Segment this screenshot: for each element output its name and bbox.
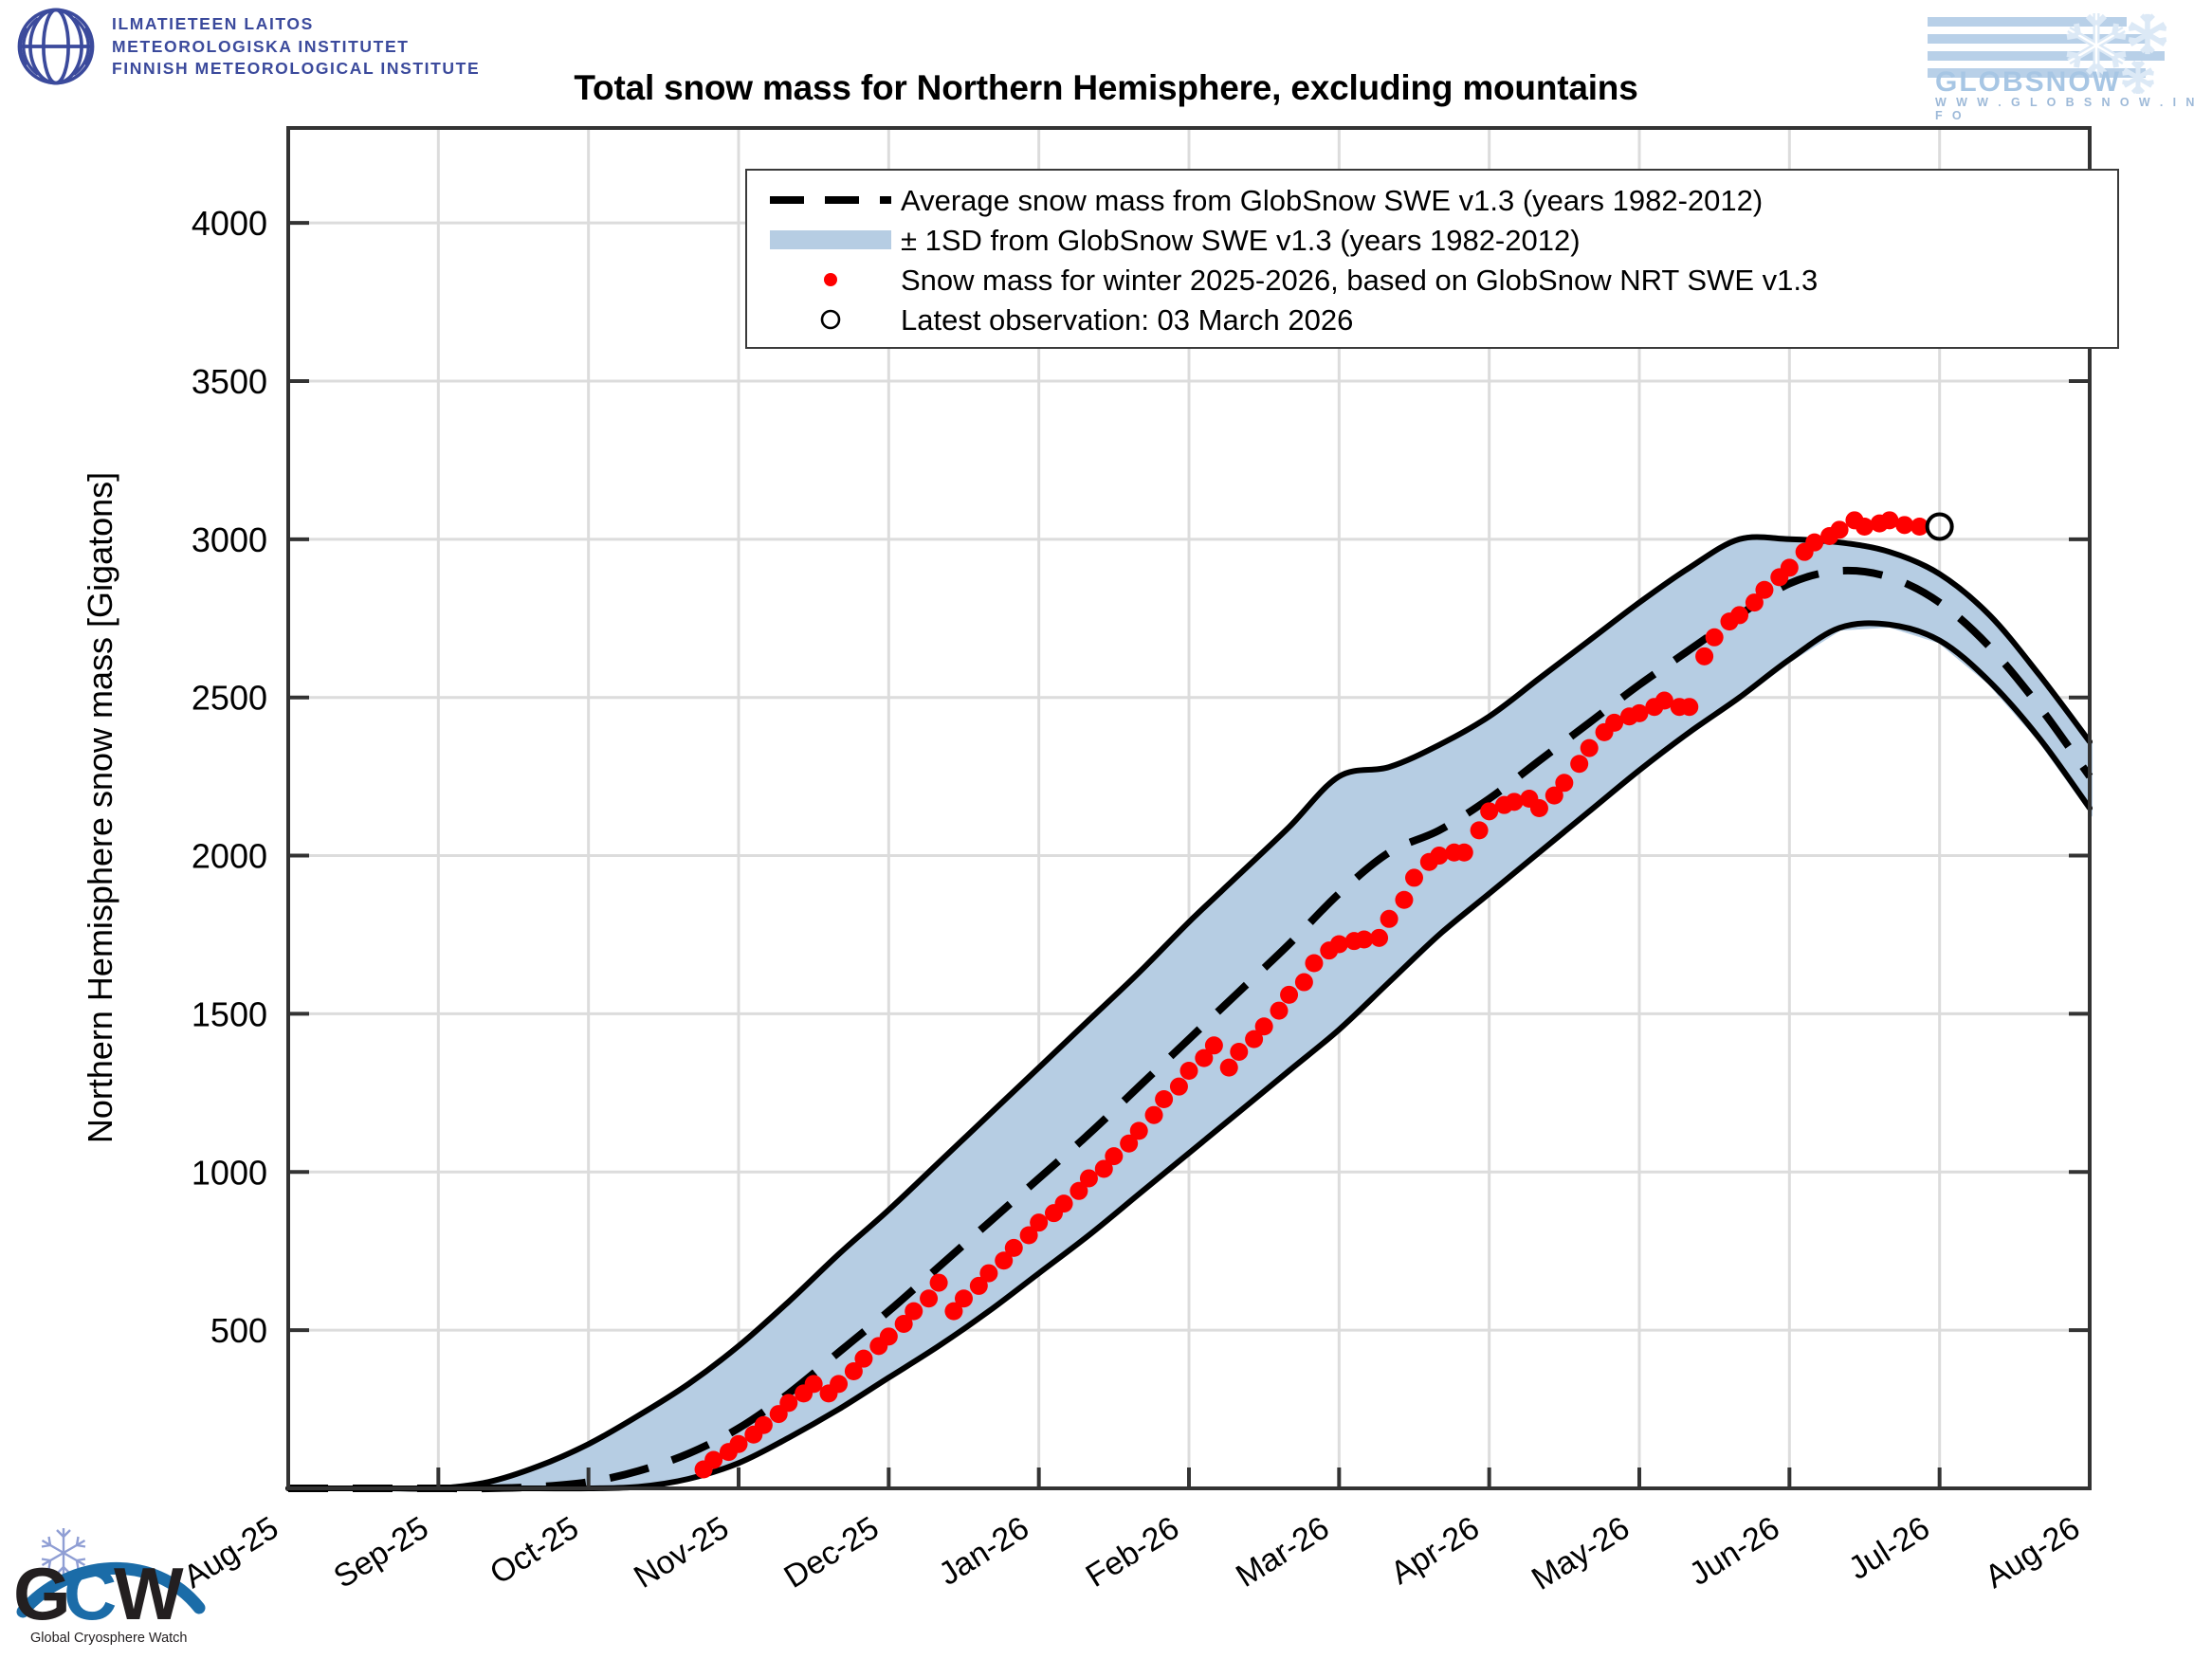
red-dot-swatch [760,269,901,290]
chart-legend: Average snow mass from GlobSnow SWE v1.3… [745,169,2119,349]
legend-label-latest: Latest observation: 03 March 2026 [901,305,1353,335]
x-tick-label: Jul-26 [1842,1510,1936,1587]
band-swatch [760,228,901,252]
x-tick-label: Oct-25 [484,1510,585,1592]
y-tick-label: 2000 [192,837,267,876]
dashed-line-swatch [760,193,901,207]
x-tick-label: Jan-26 [933,1510,1035,1593]
y-axis-label: Northern Hemisphere snow mass [Gigatons] [81,472,119,1143]
y-tick-label: 3000 [192,520,267,559]
legend-item-latest: Latest observation: 03 March 2026 [760,300,2104,339]
legend-label-observations: Snow mass for winter 2025-2026, based on… [901,265,1818,295]
x-tick-label: Aug-26 [1979,1510,2086,1595]
y-tick-label: 3500 [192,362,267,401]
x-tick-label: Apr-26 [1384,1510,1486,1592]
x-tick-label: Sep-25 [327,1510,434,1595]
x-tick-label: May-26 [1526,1510,1636,1597]
y-tick-label: 500 [210,1311,267,1350]
legend-item-observations: Snow mass for winter 2025-2026, based on… [760,260,2104,300]
y-tick-label: 2500 [192,679,267,718]
y-tick-label: 1500 [192,994,267,1033]
legend-label-sd: ± 1SD from GlobSnow SWE v1.3 (years 1982… [901,226,1581,255]
legend-item-average: Average snow mass from GlobSnow SWE v1.3… [760,180,2104,220]
legend-label-average: Average snow mass from GlobSnow SWE v1.3… [901,186,1763,215]
y-tick-labels: 5001000150020002500300035004000 [192,204,267,1350]
open-circle-swatch [760,307,901,332]
x-tick-labels: Aug-25Sep-25Oct-25Nov-25Dec-25Jan-26Feb-… [177,1510,2086,1597]
legend-item-sd: ± 1SD from GlobSnow SWE v1.3 (years 1982… [760,220,2104,260]
y-tick-label: 4000 [192,204,267,243]
x-tick-label: Aug-25 [177,1510,284,1595]
x-tick-label: Jun-26 [1683,1510,1785,1593]
x-tick-label: Feb-26 [1080,1510,1186,1595]
x-tick-label: Mar-26 [1230,1510,1335,1595]
x-tick-label: Nov-25 [628,1510,735,1595]
x-tick-label: Dec-25 [777,1510,885,1595]
y-tick-label: 1000 [192,1153,267,1192]
